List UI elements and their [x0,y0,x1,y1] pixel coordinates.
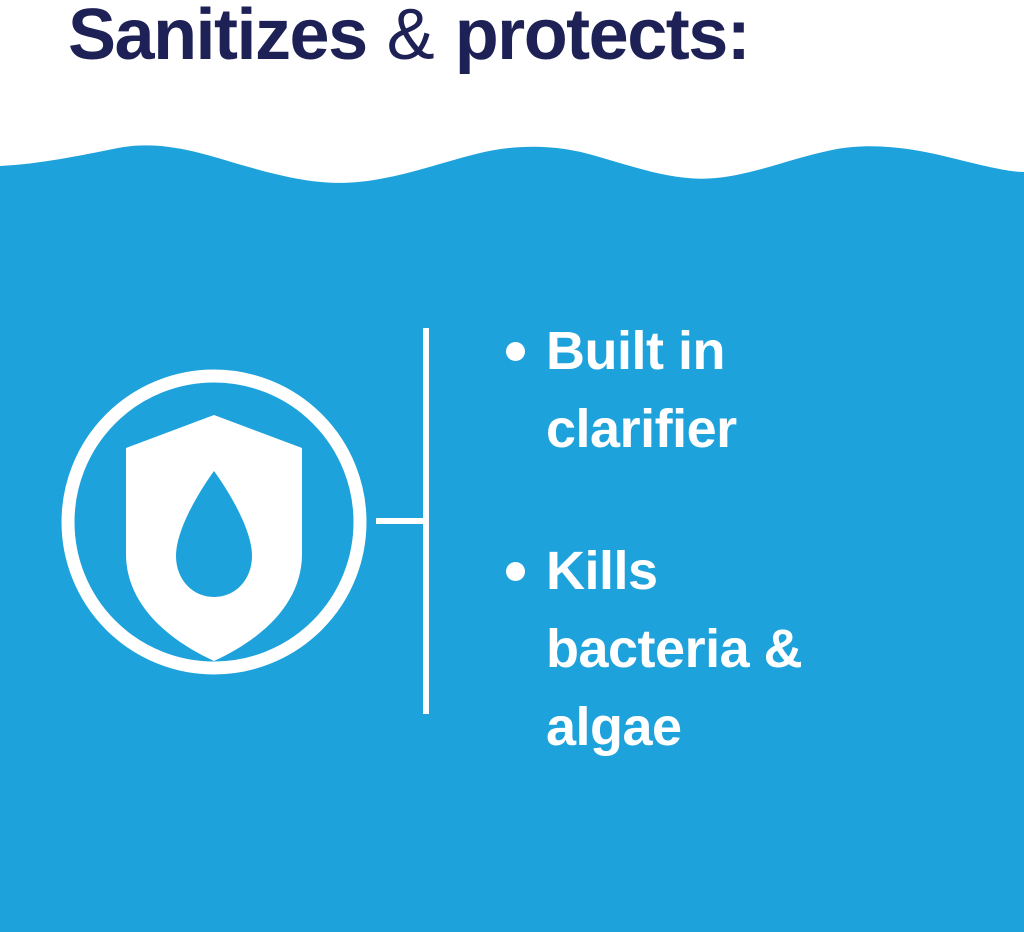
bullet-icon [506,562,525,581]
page-title-part-two: protects: [455,0,750,75]
list-item-label: Built in clarifier [546,312,846,468]
list-item: Kills bacteria & algae [500,532,970,766]
bullet-icon [506,342,525,361]
connector-tick-line [376,518,426,524]
bracket-connector [376,328,434,714]
page-title-ampersand: & [387,0,435,75]
page-title: Sanitizes & protects: [68,0,749,78]
list-item: Built in clarifier [500,312,970,468]
shield-water-drop-icon [58,366,370,678]
feature-list: Built in clarifier Kills bacteria & alga… [500,312,970,766]
list-item-label: Kills bacteria & algae [546,532,846,766]
page-title-part-one: Sanitizes [68,0,367,75]
product-feature-banner: Sanitizes & protects: Built in clarifier… [0,0,1024,932]
